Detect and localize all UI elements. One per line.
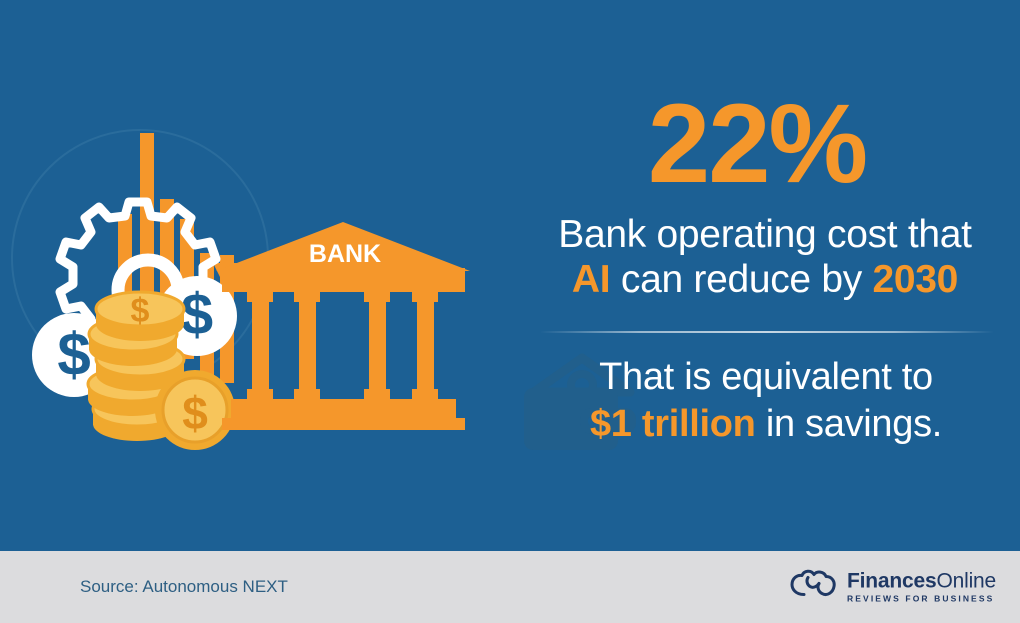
footer-bar: Source: Autonomous NEXT FinancesOnline R… <box>0 551 1020 623</box>
brand-name: FinancesOnline <box>847 571 996 592</box>
subline-line-1: That is equivalent to <box>599 356 933 398</box>
headline-line-1: Bank operating cost that <box>558 213 971 256</box>
svg-text:$: $ <box>57 321 90 388</box>
svg-text:$: $ <box>131 292 150 330</box>
stat-subline: That is equivalent to $1 trillion in sav… <box>528 354 1004 448</box>
section-divider <box>540 331 994 333</box>
bank-label: BANK <box>309 240 381 268</box>
coin-front-icon: $ <box>155 370 235 450</box>
svg-text:$: $ <box>182 387 208 439</box>
brand-logo[interactable]: FinancesOnline REVIEWS FOR BUSINESS <box>790 570 996 605</box>
headline-middle: can reduce by <box>610 258 872 301</box>
subline-amount-accent: $1 trillion <box>590 403 756 445</box>
infographic-canvas: $ $ <box>0 0 1020 623</box>
headline-ai-accent: AI <box>572 258 610 301</box>
headline-year-accent: 2030 <box>873 258 959 301</box>
finance-illustration: $ $ <box>0 0 510 551</box>
subline-tail: in savings. <box>756 403 943 445</box>
stat-headline: Bank operating cost that AI can reduce b… <box>528 212 1002 302</box>
stat-value: 22% <box>512 88 1002 200</box>
stat-content: 22% Bank operating cost that AI can redu… <box>512 0 1020 551</box>
svg-text:$: $ <box>181 282 213 347</box>
brand-name-light: Online <box>936 570 996 593</box>
brand-name-bold: Finances <box>847 570 936 593</box>
infinity-cloud-icon <box>790 570 836 605</box>
brand-tagline: REVIEWS FOR BUSINESS <box>847 595 996 604</box>
source-attribution: Source: Autonomous NEXT <box>80 577 288 597</box>
brand-text-block: FinancesOnline REVIEWS FOR BUSINESS <box>847 571 996 604</box>
